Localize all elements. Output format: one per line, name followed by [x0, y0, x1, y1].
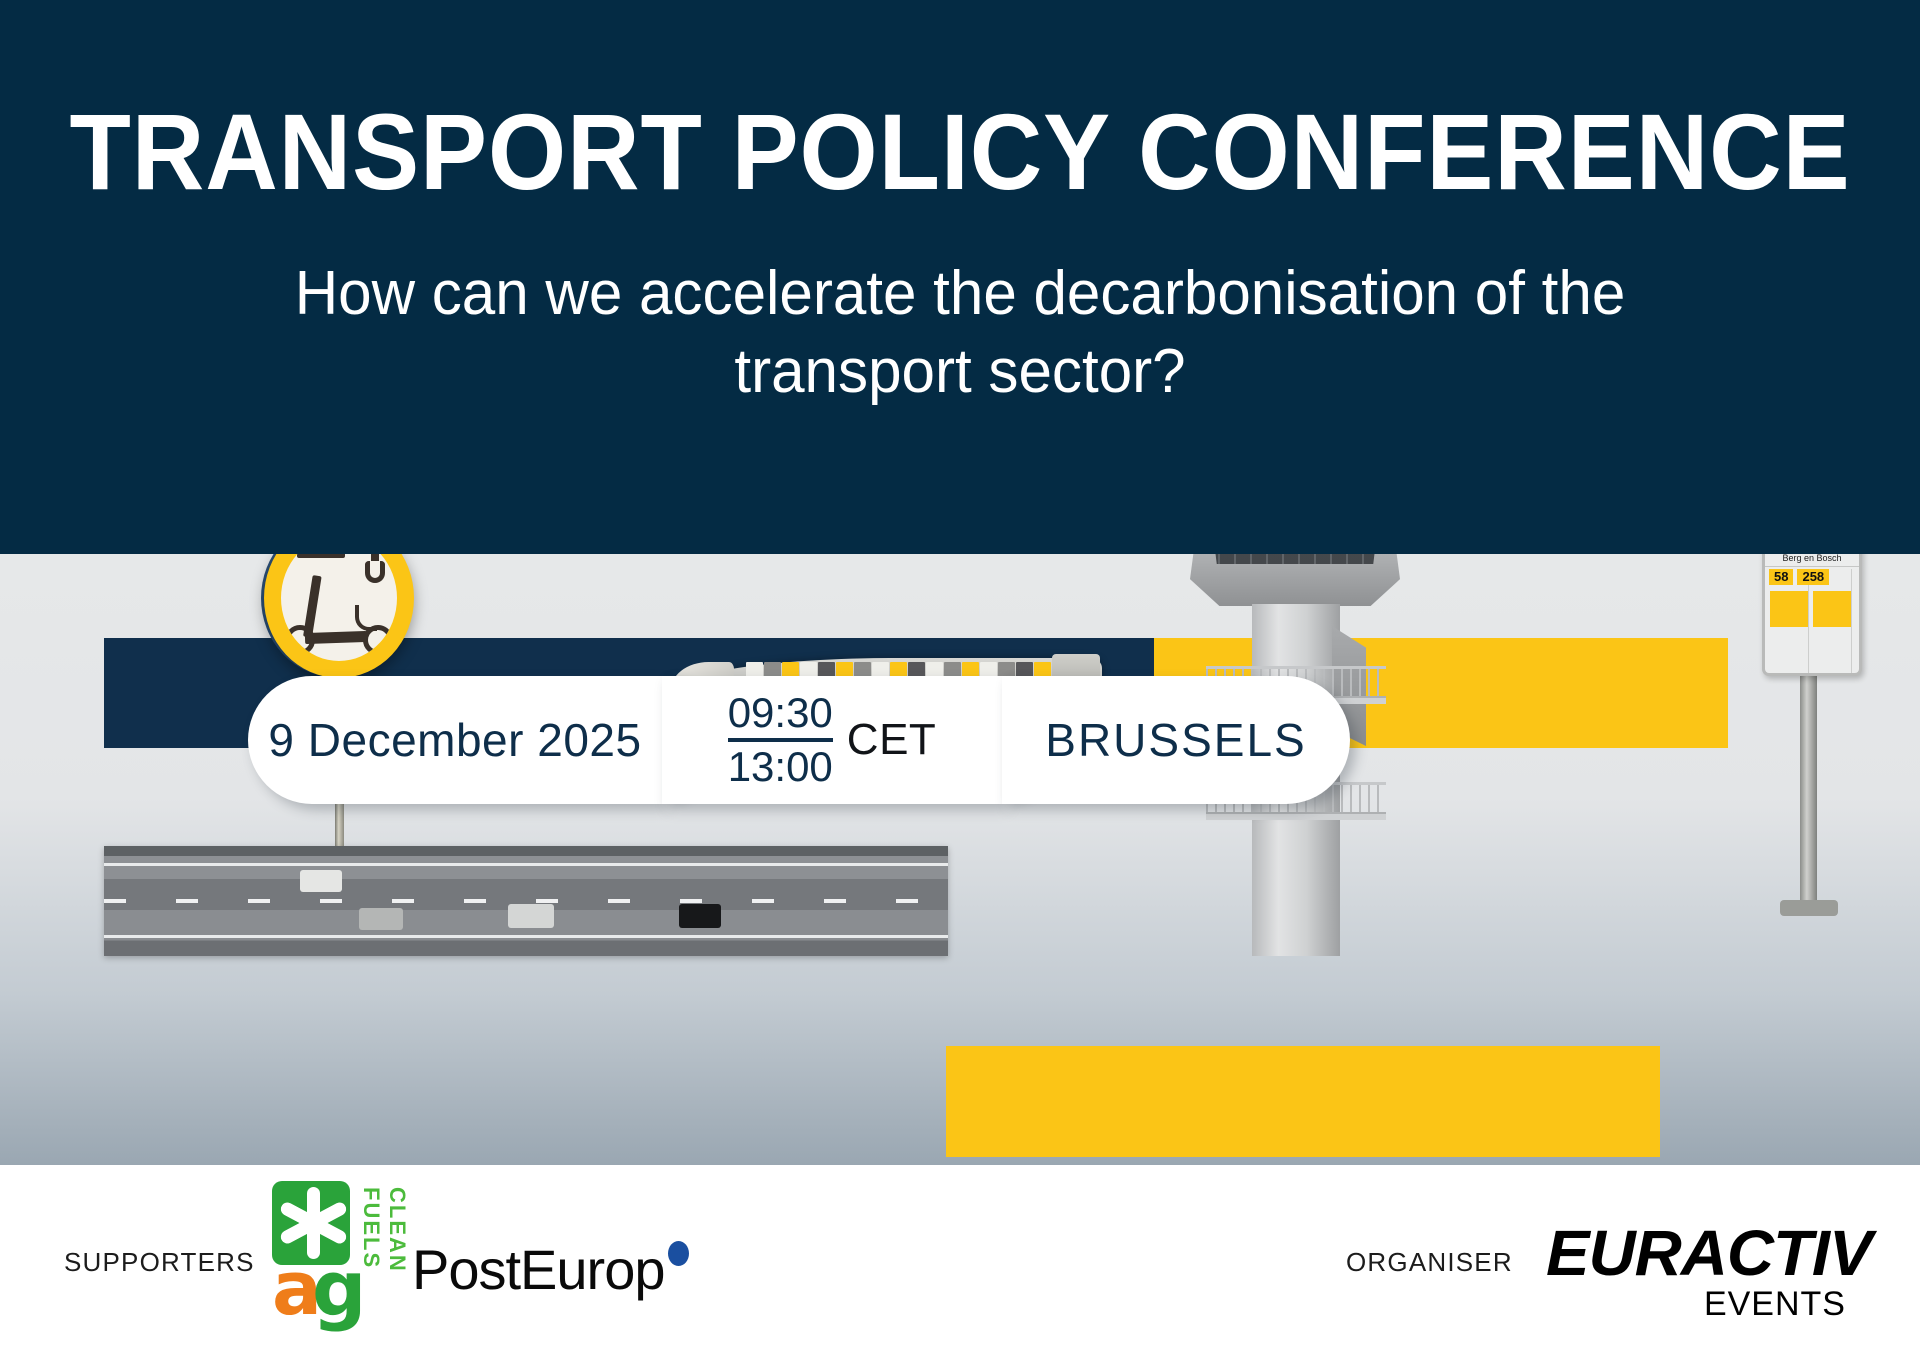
euractiv-events-label: EVENTS: [1546, 1287, 1846, 1321]
timetable-block-2: [1813, 591, 1851, 627]
clean-fuels-wordmark: CLEAN FUELS: [358, 1187, 410, 1351]
event-poster: TRANSPORT POLICY CONFERENCE How can we a…: [0, 0, 1920, 1357]
car: [359, 908, 403, 930]
posteurop-wordmark: PostEurop: [412, 1238, 665, 1301]
organiser-label: ORGANISER: [1346, 1247, 1513, 1278]
header-panel: TRANSPORT POLICY CONFERENCE How can we a…: [0, 0, 1920, 554]
posteurop-dot-icon: [668, 1241, 689, 1266]
car: [508, 904, 554, 928]
car: [300, 870, 342, 892]
timetable-block-1: [1770, 591, 1808, 627]
clean-fuels-logo: a g CLEAN FUELS: [272, 1181, 422, 1351]
time-start: 09:30: [728, 691, 833, 735]
bus-stop-pole: [1800, 662, 1817, 914]
time-rule: [728, 738, 833, 742]
page-title: TRANSPORT POLICY CONFERENCE: [67, 98, 1853, 206]
time-end: 13:00: [728, 745, 833, 789]
euractiv-logo: EURACTIV EVENTS: [1546, 1221, 1846, 1313]
posteurop-logo: PostEurop: [412, 1237, 665, 1302]
event-date-pill: 9 December 2025: [248, 676, 662, 804]
bus-stop-name: Berg en Bosch: [1765, 554, 1859, 567]
event-time-pill: 09:30 13:00 CET: [662, 676, 1002, 804]
bus-route-258: 258: [1797, 569, 1829, 585]
bus-route-list: 58 258: [1769, 569, 1829, 585]
bus-stop-panel: Berg en Bosch 58 258: [1762, 554, 1862, 676]
event-location-pill: BRUSSELS: [1002, 676, 1350, 804]
bus-route-58: 58: [1769, 569, 1793, 585]
yellow-block: [946, 1046, 1660, 1157]
footer-panel: SUPPORTERS a g CLEAN FUELS PostEurop ORG…: [0, 1165, 1920, 1357]
bus-stop-sign: Berg en Bosch 58 258: [1750, 554, 1868, 912]
event-date: 9 December 2025: [268, 713, 641, 767]
supporters-label: SUPPORTERS: [64, 1247, 255, 1278]
highway-image: [104, 846, 948, 956]
event-details-bar: 9 December 2025 09:30 13:00 CET BRUSSELS: [248, 676, 1350, 804]
bus-stop-base: [1780, 900, 1838, 916]
event-location: BRUSSELS: [1045, 713, 1306, 767]
euractiv-wordmark: EURACTIV: [1546, 1221, 1852, 1285]
car: [679, 904, 721, 928]
escooter-sign: [264, 554, 414, 648]
timezone: CET: [847, 715, 937, 765]
page-subtitle: How can we accelerate the decarbonisatio…: [174, 255, 1745, 411]
time-range: 09:30 13:00: [728, 691, 833, 789]
hero-collage: Berg en Bosch 58 258: [0, 554, 1920, 1165]
